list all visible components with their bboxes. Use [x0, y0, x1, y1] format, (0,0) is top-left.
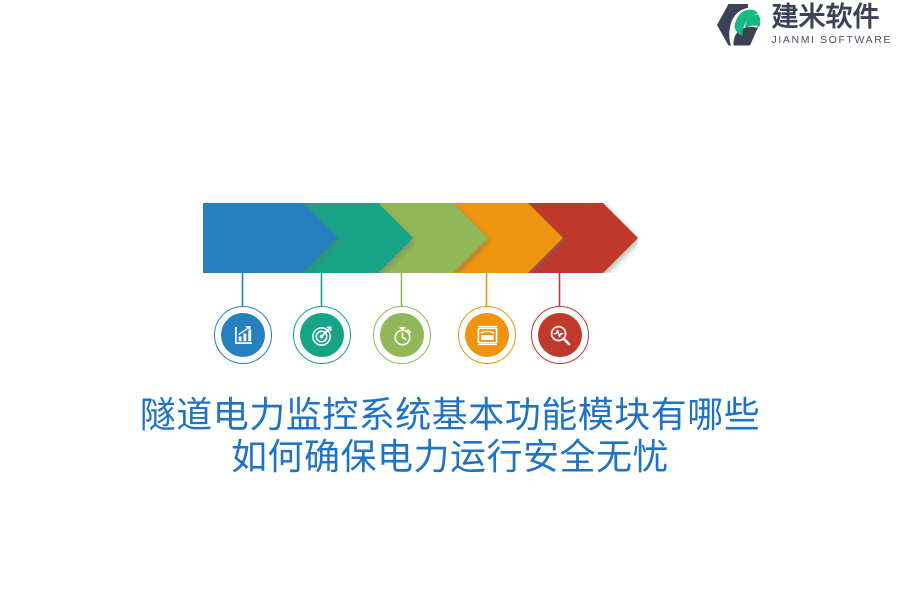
icon-ring-4 — [458, 306, 516, 364]
icon-node-3[interactable] — [373, 306, 431, 364]
icon-node-4[interactable] — [458, 306, 516, 364]
brand-name-en: JIANMI SOFTWARE — [772, 35, 892, 46]
target-icon — [300, 313, 344, 357]
icon-ring-5 — [531, 306, 589, 364]
presentation-icon — [465, 313, 509, 357]
icon-row — [0, 306, 900, 368]
chevron-process-banner — [203, 203, 638, 273]
icon-ring-3 — [373, 306, 431, 364]
icon-ring-2 — [293, 306, 351, 364]
brand-name-cn: 建米软件 — [772, 4, 892, 31]
icon-node-5[interactable] — [531, 306, 589, 364]
icon-node-1[interactable] — [214, 306, 272, 364]
icon-ring-1 — [214, 306, 272, 364]
page-title-line-2: 如何确保电力运行安全无忧 — [0, 437, 900, 479]
brand-logo: 建米软件 JIANMI SOFTWARE — [714, 0, 892, 50]
brand-text: 建米软件 JIANMI SOFTWARE — [772, 4, 892, 46]
icon-node-2[interactable] — [293, 306, 351, 364]
stopwatch-icon — [380, 313, 424, 357]
bar-chart-icon — [221, 313, 265, 357]
page-title-line-1: 隧道电力监控系统基本功能模块有哪些 — [0, 395, 900, 437]
jianmi-logo-mark — [714, 2, 764, 48]
magnifier-pulse-icon — [538, 313, 582, 357]
connector-lines — [0, 0, 900, 600]
page-title: 隧道电力监控系统基本功能模块有哪些 如何确保电力运行安全无忧 — [0, 395, 900, 479]
